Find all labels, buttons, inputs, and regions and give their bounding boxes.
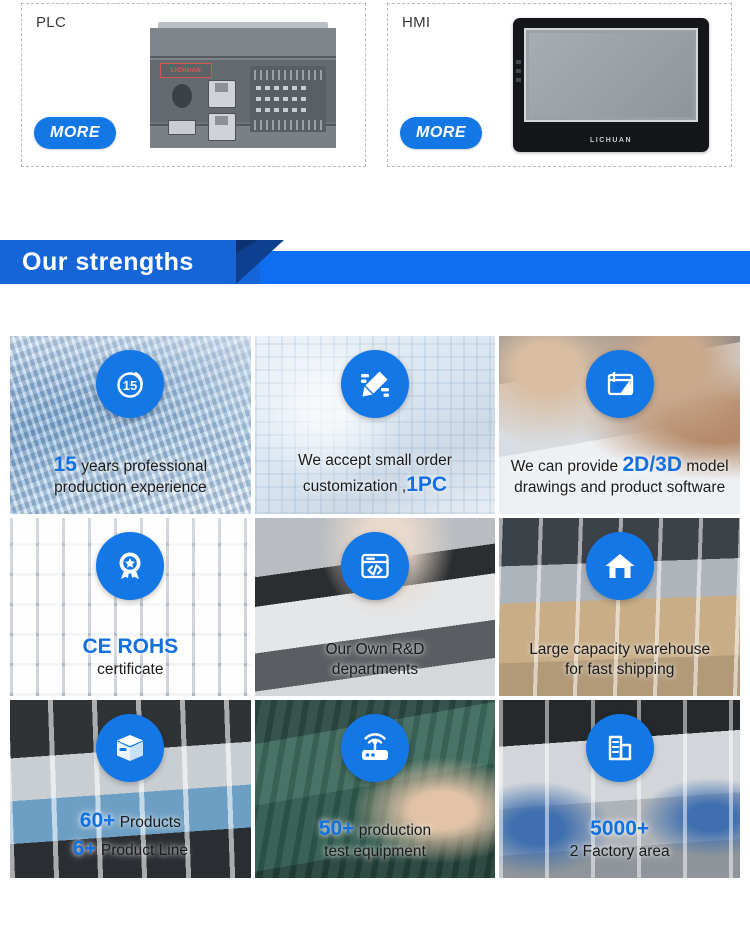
caption-highlight: CE ROHS [82,635,178,658]
factory-building-icon [586,714,654,782]
strength-card-factory-area[interactable]: 5000+ 2 Factory area [499,700,740,878]
more-button-hmi[interactable]: MORE [400,117,482,149]
product-box-plc[interactable]: PLC LICHUAN [21,3,366,167]
caption-line2: drawings and product software [503,478,736,498]
caption-highlight-2: 6+ [73,837,97,860]
code-window-icon [341,532,409,600]
more-button-plc[interactable]: MORE [34,117,116,149]
caption-line1: Our Own R&D [325,641,424,658]
strength-card-products[interactable]: 60+ Products 6+ Product Line [10,700,251,878]
caption-line1: production [354,822,431,839]
plc-device-image: LICHUAN [150,22,336,149]
caption-line2: for fast shipping [503,660,736,680]
hmi-brand-logo: LICHUAN [513,137,709,144]
card-caption: Large capacity warehouse for fast shippi… [503,640,736,680]
strength-card-warehouse[interactable]: Large capacity warehouse for fast shippi… [499,518,740,696]
package-box-icon [96,714,164,782]
hmi-device-image: LICHUAN [513,18,709,152]
card-caption: 5000+ 2 Factory area [503,815,736,862]
caption-line1-pre: We can provide [511,458,623,475]
banner-fold-tip [236,240,258,253]
strength-card-rnd[interactable]: Our Own R&D departments [255,518,496,696]
pencil-customization-icon [341,350,409,418]
caption-line2: certificate [14,660,247,680]
product-boxes-row: PLC LICHUAN [0,0,750,205]
section-title: Our strengths [22,240,194,284]
card-caption: 60+ Products 6+ Product Line [14,807,247,862]
product-title-hmi: HMI [402,14,430,31]
cad-drawing-icon [586,350,654,418]
strength-card-test-equipment[interactable]: 50+ production test equipment [255,700,496,878]
card-caption: We can provide 2D/3D model drawings and … [503,451,736,498]
caption-line2: Product Line [97,842,188,859]
caption-line1-post: model [682,458,729,475]
caption-line1: Products [115,814,180,831]
caption-line2: customization , [303,478,406,495]
product-box-hmi[interactable]: HMI LICHUAN MORE [387,3,732,167]
strengths-grid: 15 15 years professional production expe… [10,336,740,878]
caption-line2: test equipment [259,842,492,862]
our-strengths-banner: Our strengths [0,240,750,288]
strength-card-certificate[interactable]: CE ROHS certificate [10,518,251,696]
router-signal-icon [341,714,409,782]
warehouse-home-icon [586,532,654,600]
caption-line2: departments [259,660,492,680]
caption-line1: years professional [77,458,207,475]
strength-card-years[interactable]: 15 15 years professional production expe… [10,336,251,514]
product-title-plc: PLC [36,14,66,31]
card-caption: CE ROHS certificate [14,633,247,680]
caption-highlight: 50+ [319,817,355,840]
strength-card-customization[interactable]: We accept small order customization ,1PC [255,336,496,514]
strength-card-cad-models[interactable]: We can provide 2D/3D model drawings and … [499,336,740,514]
plc-brand-logo: LICHUAN [160,63,212,78]
card-caption: We accept small order customization ,1PC [259,451,492,498]
card-caption: Our Own R&D departments [259,640,492,680]
caption-line1: Large capacity warehouse [529,641,710,658]
svg-text:15: 15 [123,378,137,393]
caption-line2: 2 Factory area [503,842,736,862]
card-caption: 15 years professional production experie… [14,451,247,498]
award-medal-icon [96,532,164,600]
caption-highlight: 2D/3D [622,453,682,476]
caption-highlight: 15 [54,453,77,476]
fifteen-years-badge-icon: 15 [96,350,164,418]
card-caption: 50+ production test equipment [259,815,492,862]
caption-line1: We accept small order [298,452,452,469]
caption-highlight: 1PC [406,473,447,496]
caption-line2: production experience [14,478,247,498]
caption-highlight-1: 60+ [80,809,116,832]
caption-highlight: 5000+ [590,817,649,840]
